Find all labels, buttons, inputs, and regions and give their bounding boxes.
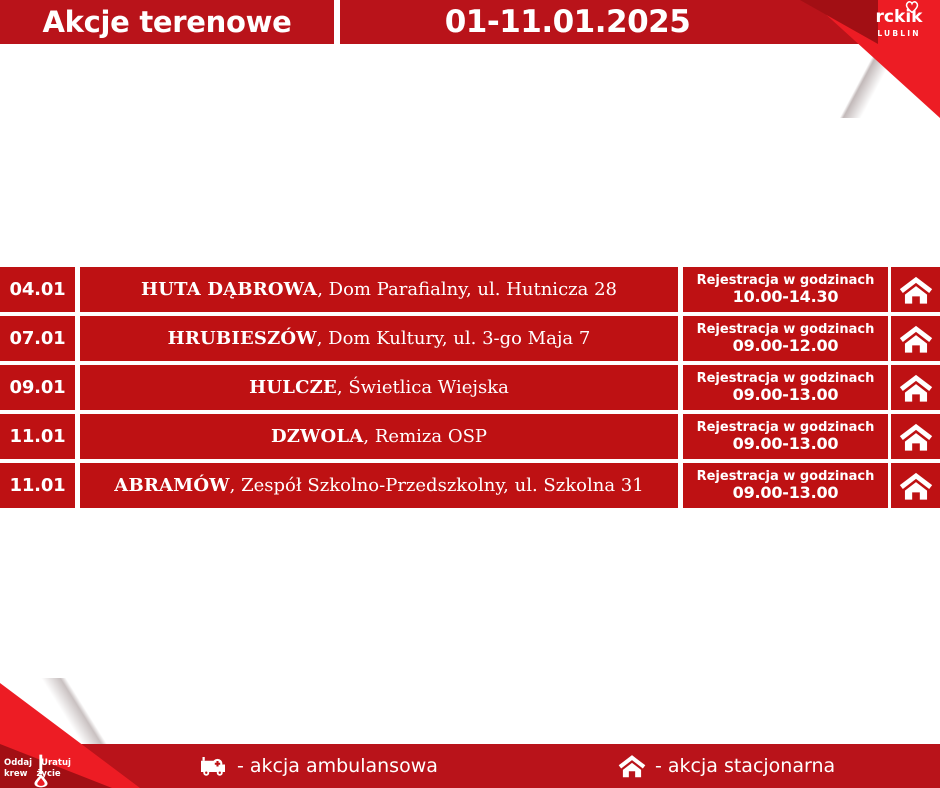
registration-cell: Rejestracja w godzinach 09.00-13.00 [683,414,888,459]
registration-label: Rejestracja w godzinach [697,323,875,337]
events-table: 04.01 HUTA DĄBROWA, Dom Parafialny, ul. … [0,267,940,512]
house-icon [899,471,933,501]
event-city: HULCZE [249,377,337,398]
table-row[interactable]: 09.01 HULCZE, Świetlica Wiejska Rejestra… [0,365,940,410]
registration-label: Rejestracja w godzinach [697,470,875,484]
event-location: HUTA DĄBROWA, Dom Parafialny, ul. Hutnic… [80,267,678,312]
event-city: DZWOLA [271,426,363,447]
heart-icon [905,0,919,13]
registration-cell: Rejestracja w godzinach 09.00-13.00 [683,463,888,508]
house-icon [618,754,646,778]
event-venue: , Remiza OSP [363,426,487,447]
house-icon [899,422,933,452]
event-location: HRUBIESZÓW, Dom Kultury, ul. 3-go Maja 7 [80,316,678,361]
event-type-cell [891,267,940,312]
event-date: 11.01 [0,463,75,508]
blood-donation-logo: Oddaj Uratuj krew życie [4,758,74,780]
event-date: 09.01 [0,365,75,410]
registration-hours: 09.00-13.00 [733,386,839,403]
rckik-logo: rckik LUBLIN [864,8,934,38]
event-venue: , Świetlica Wiejska [337,377,509,398]
legend-label-stationary: - akcja stacjonarna [655,755,835,777]
blood-logo-oddaj: Oddaj [4,758,32,769]
event-type-cell [891,365,940,410]
legend-label-ambulance: - akcja ambulansowa [237,755,438,777]
house-icon [899,275,933,305]
registration-cell: Rejestracja w godzinach 09.00-12.00 [683,316,888,361]
event-venue: , Zespół Szkolno-Przedszkolny, ul. Szkol… [230,475,644,496]
legend-item-stationary: - akcja stacjonarna [618,754,835,778]
event-location: ABRAMÓW, Zespół Szkolno-Przedszkolny, ul… [80,463,678,508]
house-icon [899,373,933,403]
event-city: HRUBIESZÓW [168,328,317,349]
blood-logo-krew: krew [4,769,27,780]
table-row[interactable]: 11.01 DZWOLA, Remiza OSP Rejestracja w g… [0,414,940,459]
table-row[interactable]: 11.01 ABRAMÓW, Zespół Szkolno-Przedszkol… [0,463,940,508]
event-venue: , Dom Kultury, ul. 3-go Maja 7 [317,328,591,349]
event-location: HULCZE, Świetlica Wiejska [80,365,678,410]
registration-hours: 09.00-12.00 [733,337,839,354]
event-date: 07.01 [0,316,75,361]
event-type-cell [891,414,940,459]
rckik-logo-subtitle: LUBLIN [864,29,934,38]
registration-label: Rejestracja w godzinach [697,421,875,435]
date-range-label: 01-11.01.2025 [340,0,795,44]
registration-hours: 09.00-13.00 [733,484,839,501]
page-header: Akcje terenowe 01-11.01.2025 [0,0,940,44]
table-row[interactable]: 04.01 HUTA DĄBROWA, Dom Parafialny, ul. … [0,267,940,312]
ambulance-icon [198,754,228,778]
rckik-logo-wordmark: rckik [876,8,923,26]
table-row[interactable]: 07.01 HRUBIESZÓW, Dom Kultury, ul. 3-go … [0,316,940,361]
registration-hours: 09.00-13.00 [733,435,839,452]
event-type-cell [891,463,940,508]
event-date: 04.01 [0,267,75,312]
registration-label: Rejestracja w godzinach [697,372,875,386]
ribbon-shadow [800,44,940,118]
page-title: Akcje terenowe [0,0,334,44]
event-venue: , Dom Parafialny, ul. Hutnicza 28 [317,279,617,300]
event-date: 11.01 [0,414,75,459]
event-city: ABRAMÓW [114,475,229,496]
event-type-cell [891,316,940,361]
registration-hours: 10.00-14.30 [733,288,839,305]
event-location: DZWOLA, Remiza OSP [80,414,678,459]
registration-label: Rejestracja w godzinach [697,274,875,288]
event-city: HUTA DĄBROWA [141,279,317,300]
registration-cell: Rejestracja w godzinach 09.00-13.00 [683,365,888,410]
blood-drop-icon [32,754,50,788]
registration-cell: Rejestracja w godzinach 10.00-14.30 [683,267,888,312]
legend-item-ambulance: - akcja ambulansowa [198,754,438,778]
house-icon [899,324,933,354]
